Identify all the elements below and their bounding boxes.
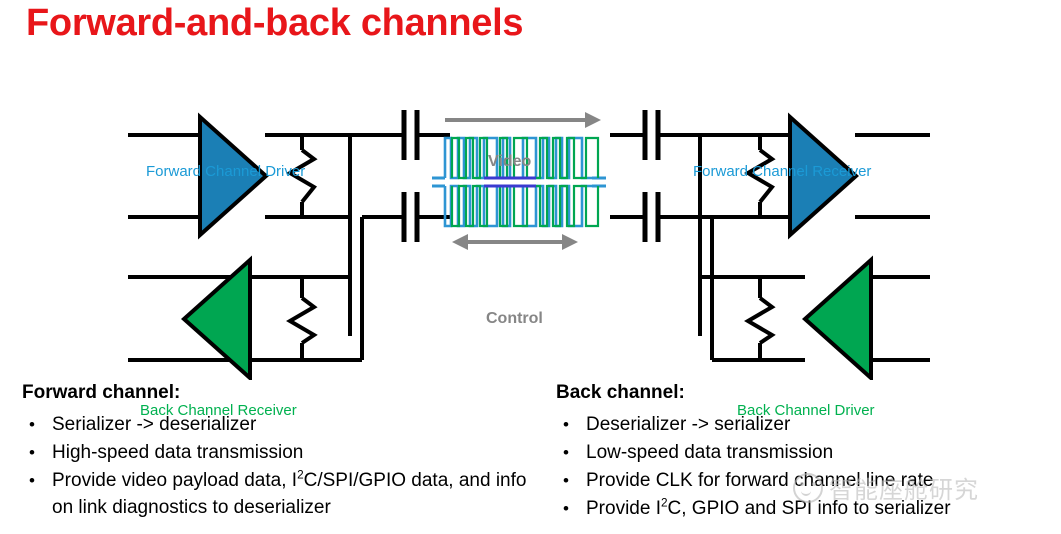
bullet-text: Provide I2C, GPIO and SPI info to serial… <box>586 495 1061 522</box>
circuit-diagram-svg <box>0 60 1061 380</box>
resistor-right-back <box>748 298 772 343</box>
page-title: Forward-and-back channels <box>26 2 523 45</box>
bullet-text: Provide video payload data, I2C/SPI/GPIO… <box>52 467 552 521</box>
bullet-marker-icon: • <box>556 495 586 522</box>
bullet-marker-icon: • <box>556 439 586 466</box>
slide-canvas: Forward-and-back channels <box>0 0 1061 534</box>
differential-waveform <box>432 138 606 226</box>
control-arrow <box>452 234 578 250</box>
bullet-marker-icon: • <box>556 467 586 494</box>
list-item: • Provide video payload data, I2C/SPI/GP… <box>22 467 552 521</box>
label-control: Control <box>486 310 543 328</box>
label-forward-channel-receiver: Forward Channel Receiver <box>693 163 871 180</box>
bullet-marker-icon: • <box>22 411 52 438</box>
bullet-text: Low-speed data transmission <box>586 439 1061 466</box>
bullet-marker-icon: • <box>22 439 52 466</box>
list-item: • Low-speed data transmission <box>556 439 1061 466</box>
back-channel-text-block: Back channel: • Deserializer -> serializ… <box>556 380 1061 523</box>
bullet-text: High-speed data transmission <box>52 439 552 466</box>
waveform-green-bottom <box>452 186 598 226</box>
list-item: • Provide CLK for forward channel line r… <box>556 467 1061 494</box>
bullet-marker-icon: • <box>556 411 586 438</box>
bullet-text: Provide CLK for forward channel line rat… <box>586 467 1061 494</box>
list-item: • Deserializer -> serializer <box>556 411 1061 438</box>
list-item: • Serializer -> deserializer <box>22 411 552 438</box>
list-item: • High-speed data transmission <box>22 439 552 466</box>
bullet-text: Deserializer -> serializer <box>586 411 1061 438</box>
forward-channel-text-block: Forward channel: • Serializer -> deseria… <box>22 380 552 522</box>
circuit-diagram: Forward Channel Driver Forward Channel R… <box>0 60 1061 380</box>
back-channel-driver-symbol <box>805 260 871 378</box>
label-forward-channel-driver: Forward Channel Driver <box>146 163 305 180</box>
video-arrow <box>445 112 601 128</box>
forward-channel-heading: Forward channel: <box>22 380 552 406</box>
bullet-text: Serializer -> deserializer <box>52 411 552 438</box>
list-item: • Provide I2C, GPIO and SPI info to seri… <box>556 495 1061 522</box>
bullet-marker-icon: • <box>22 467 52 494</box>
back-channel-heading: Back channel: <box>556 380 1061 406</box>
label-video: Video <box>488 153 531 171</box>
resistor-left-back <box>290 298 314 343</box>
